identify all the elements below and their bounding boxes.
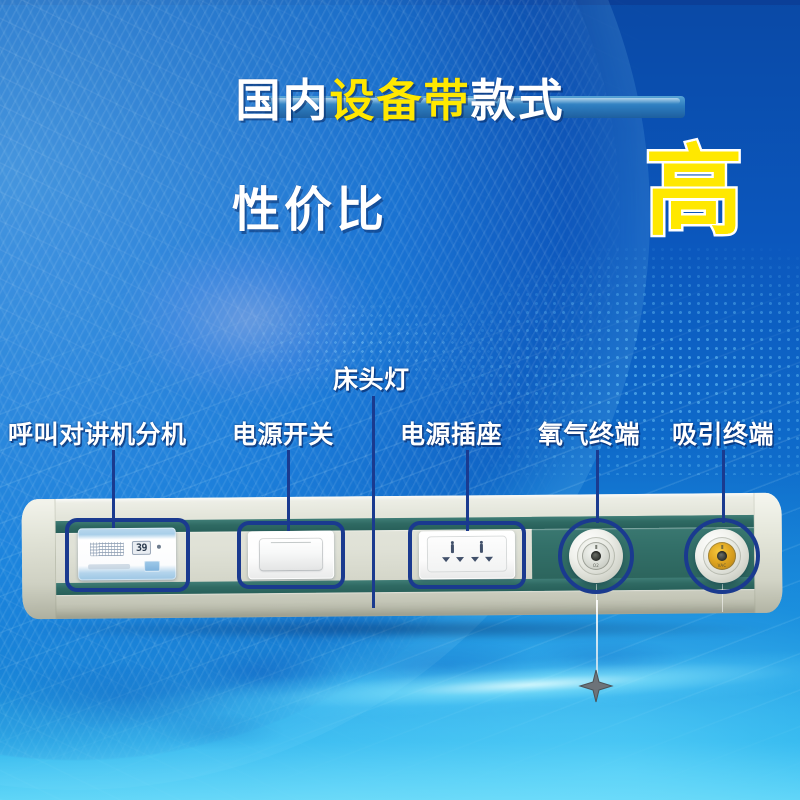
pull-cord[interactable]: [596, 600, 598, 678]
socket-slot-icon: [442, 557, 450, 562]
socket-slot-icon: [456, 557, 464, 562]
product-banner: 国内设备带款式 性价比 高 高 呼叫对讲机分机 电源开关 床头灯 电源插座 氧气…: [0, 0, 800, 800]
callout-label-bedlamp: 床头灯: [333, 360, 410, 396]
callout-label-socket: 电源插座: [400, 415, 502, 451]
socket-slot-icon: [471, 557, 479, 562]
speaker-grille-icon: [90, 542, 124, 556]
switch-rocker[interactable]: [260, 539, 322, 571]
socket-slot-icon: [485, 557, 493, 562]
socket-faceplate: [428, 537, 506, 572]
callout-label-oxygen: 氧气终端: [538, 415, 640, 451]
headline-part-2: 设备带: [329, 74, 470, 127]
panel-drop-shadow: [32, 618, 772, 640]
leader-line-suction: [722, 450, 725, 523]
panel-end-cap-left: [21, 499, 56, 619]
highlight-circle-suction: [684, 518, 760, 594]
leader-line-oxygen: [596, 450, 599, 523]
intercom-display: 39: [132, 541, 151, 555]
socket-pin-icon: [480, 544, 483, 553]
intercom-call-button[interactable]: [144, 561, 160, 572]
power-switch-unit[interactable]: [248, 531, 334, 580]
headline-block: 国内设备带款式 性价比: [0, 78, 800, 123]
callout-label-intercom: 呼叫对讲机分机: [8, 415, 187, 451]
socket-pin-dot-icon: [480, 541, 483, 544]
headline-line-1: 国内设备带款式: [0, 78, 800, 123]
highlight-circle-oxygen: [558, 518, 634, 594]
callout-label-suction: 吸引终端: [672, 415, 774, 451]
bottom-glow-gradient: [0, 670, 800, 800]
leader-line-intercom: [112, 450, 115, 535]
status-led-icon: [157, 545, 161, 549]
headline-part-3: 款式: [471, 74, 565, 127]
power-socket-unit[interactable]: [419, 531, 515, 580]
cross-hook-icon: [578, 668, 614, 704]
headline-part-1: 国内: [235, 74, 329, 127]
big-emphasis-char: 高: [645, 143, 743, 241]
socket-pin-dot-icon: [451, 541, 454, 544]
leader-line-socket: [466, 450, 469, 538]
leader-line-switch: [287, 450, 290, 537]
leader-line-bedlamp: [372, 396, 375, 608]
callout-label-switch: 电源开关: [232, 415, 334, 451]
socket-pin-icon: [451, 544, 454, 553]
nurse-call-intercom-unit[interactable]: 39: [78, 528, 176, 581]
intercom-slot: [88, 564, 130, 569]
